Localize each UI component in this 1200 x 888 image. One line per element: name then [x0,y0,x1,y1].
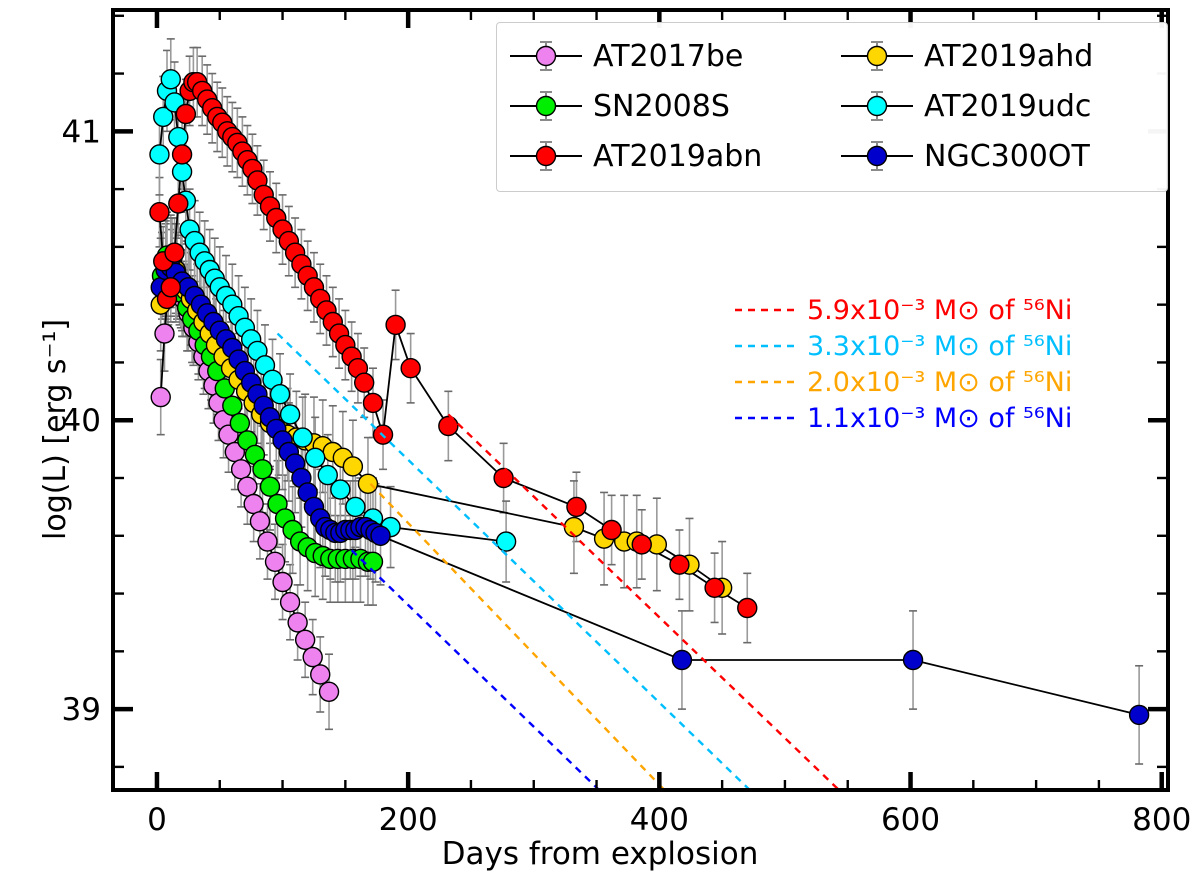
data-point-AT2017be [266,552,285,571]
figure-root: 0200400600800394041 log(L) [erg s⁻¹] Day… [0,0,1200,888]
legend-item-NGC300OT[interactable]: NGC300OT [840,133,1155,179]
legend-label: AT2019ahd [924,39,1093,74]
nickel-dash-icon [735,415,795,421]
data-point-SN2008S [253,460,272,479]
data-point-AT2019abn [401,359,420,378]
nickel-annotation-label: 1.1x10⁻³ M⊙ of ⁵⁶Ni [807,403,1072,434]
data-point-AT2019abn [705,578,724,597]
data-point-AT2019ahd [358,474,377,493]
data-point-SN2008S [260,477,279,496]
data-point-AT2017be [238,477,257,496]
data-point-AT2017be [273,573,292,592]
nickel-annotations: 5.9x10⁻³ M⊙ of ⁵⁶Ni3.3x10⁻³ M⊙ of ⁵⁶Ni2.… [735,292,1072,436]
x-tick-label: 0 [147,802,167,838]
data-point-AT2019abn [567,497,586,516]
data-point-AT2019udc [331,480,350,499]
nickel-annotation-label: 3.3x10⁻³ M⊙ of ⁵⁶Ni [807,331,1072,362]
data-point-AT2019abn [165,243,184,262]
data-point-AT2019udc [161,70,180,89]
data-point-AT2019abn [150,203,169,222]
nickel-annotation-3.3: 3.3x10⁻³ M⊙ of ⁵⁶Ni [735,328,1072,364]
data-point-AT2019udc [173,162,192,181]
y-tick-label: 39 [62,692,101,728]
data-point-AT2019abn [176,105,195,124]
legend-item-AT2017be[interactable]: AT2017be [509,33,824,79]
data-point-NGC300OT [1130,705,1149,724]
legend-label: NGC300OT [924,139,1090,174]
nickel-annotation-label: 2.0x10⁻³ M⊙ of ⁵⁶Ni [807,367,1072,398]
legend-marker-icon [840,39,914,73]
data-point-AT2017be [296,630,315,649]
data-point-AT2019abn [173,145,192,164]
data-point-AT2019abn [439,417,458,436]
legend-item-AT2019abn[interactable]: AT2019abn [509,133,824,179]
data-point-AT2017be [244,495,263,514]
x-tick-label: 600 [881,802,940,838]
y-axis-label-text: log(L) [erg s⁻¹] [38,319,73,540]
legend-label: SN2008S [593,89,730,124]
data-point-AT2017be [303,648,322,667]
data-point-AT2019abn [632,535,651,554]
data-point-AT2017be [281,593,300,612]
data-point-NGC300OT [904,651,923,670]
legend-item-AT2019ahd[interactable]: AT2019ahd [840,33,1155,79]
legend-label: AT2019udc [924,89,1091,124]
data-point-AT2019abn [355,373,374,392]
data-point-AT2019udc [169,128,188,147]
legend-item-SN2008S[interactable]: SN2008S [509,83,824,129]
nickel-dash-icon [735,307,795,313]
data-point-AT2019abn [363,393,382,412]
data-point-AT2017be [258,532,277,551]
data-point-AT2019udc [150,145,169,164]
legend-grid: AT2017beAT2019ahdSN2008SAT2019udcAT2019a… [509,33,1155,179]
data-point-AT2019udc [306,448,325,467]
x-axis-label-text: Days from explosion [442,836,759,872]
x-axis-label: Days from explosion [0,836,1200,872]
data-point-AT2019abn [602,521,621,540]
data-point-AT2017be [155,324,174,343]
data-point-AT2019abn [161,278,180,297]
legend-label: AT2019abn [593,139,762,174]
nickel-annotation-5.9: 5.9x10⁻³ M⊙ of ⁵⁶Ni [735,292,1072,328]
nickel-annotation-2.0: 2.0x10⁻³ M⊙ of ⁵⁶Ni [735,364,1072,400]
legend-item-AT2019udc[interactable]: AT2019udc [840,83,1155,129]
data-point-SN2008S [363,552,382,571]
x-tick-label: 800 [1132,802,1191,838]
legend: AT2017beAT2019ahdSN2008SAT2019udcAT2019a… [496,22,1168,192]
data-point-AT2019ahd [343,457,362,476]
data-point-AT2019abn [169,194,188,213]
nickel-annotation-1.1: 1.1x10⁻³ M⊙ of ⁵⁶Ni [735,400,1072,436]
legend-marker-icon [509,139,583,173]
data-point-AT2017be [288,613,307,632]
data-point-AT2019udc [271,385,290,404]
data-point-AT2019udc [281,405,300,424]
data-point-AT2017be [250,512,269,531]
data-point-AT2017be [151,388,170,407]
legend-marker-icon [509,89,583,123]
data-point-SN2008S [223,396,242,415]
data-point-AT2019abn [738,599,757,618]
data-point-AT2019abn [386,315,405,334]
legend-marker-icon [840,139,914,173]
data-point-NGC300OT [371,526,390,545]
data-point-AT2019udc [497,532,516,551]
legend-marker-icon [509,39,583,73]
data-point-AT2019abn [670,555,689,574]
data-point-AT2019udc [293,428,312,447]
nickel-annotation-label: 5.9x10⁻³ M⊙ of ⁵⁶Ni [807,295,1072,326]
legend-marker-icon [840,89,914,123]
legend-label: AT2017be [593,39,743,74]
data-point-AT2019abn [494,469,513,488]
nickel-dash-icon [735,379,795,385]
data-point-AT2019udc [346,497,365,516]
nickel-dash-icon [735,343,795,349]
data-point-AT2017be [232,460,251,479]
x-tick-label: 400 [630,802,689,838]
y-tick-label: 41 [62,114,101,150]
data-point-SN2008S [230,414,249,433]
x-tick-label: 200 [379,802,438,838]
data-point-NGC300OT [672,651,691,670]
data-point-AT2017be [311,665,330,684]
data-point-AT2017be [320,682,339,701]
